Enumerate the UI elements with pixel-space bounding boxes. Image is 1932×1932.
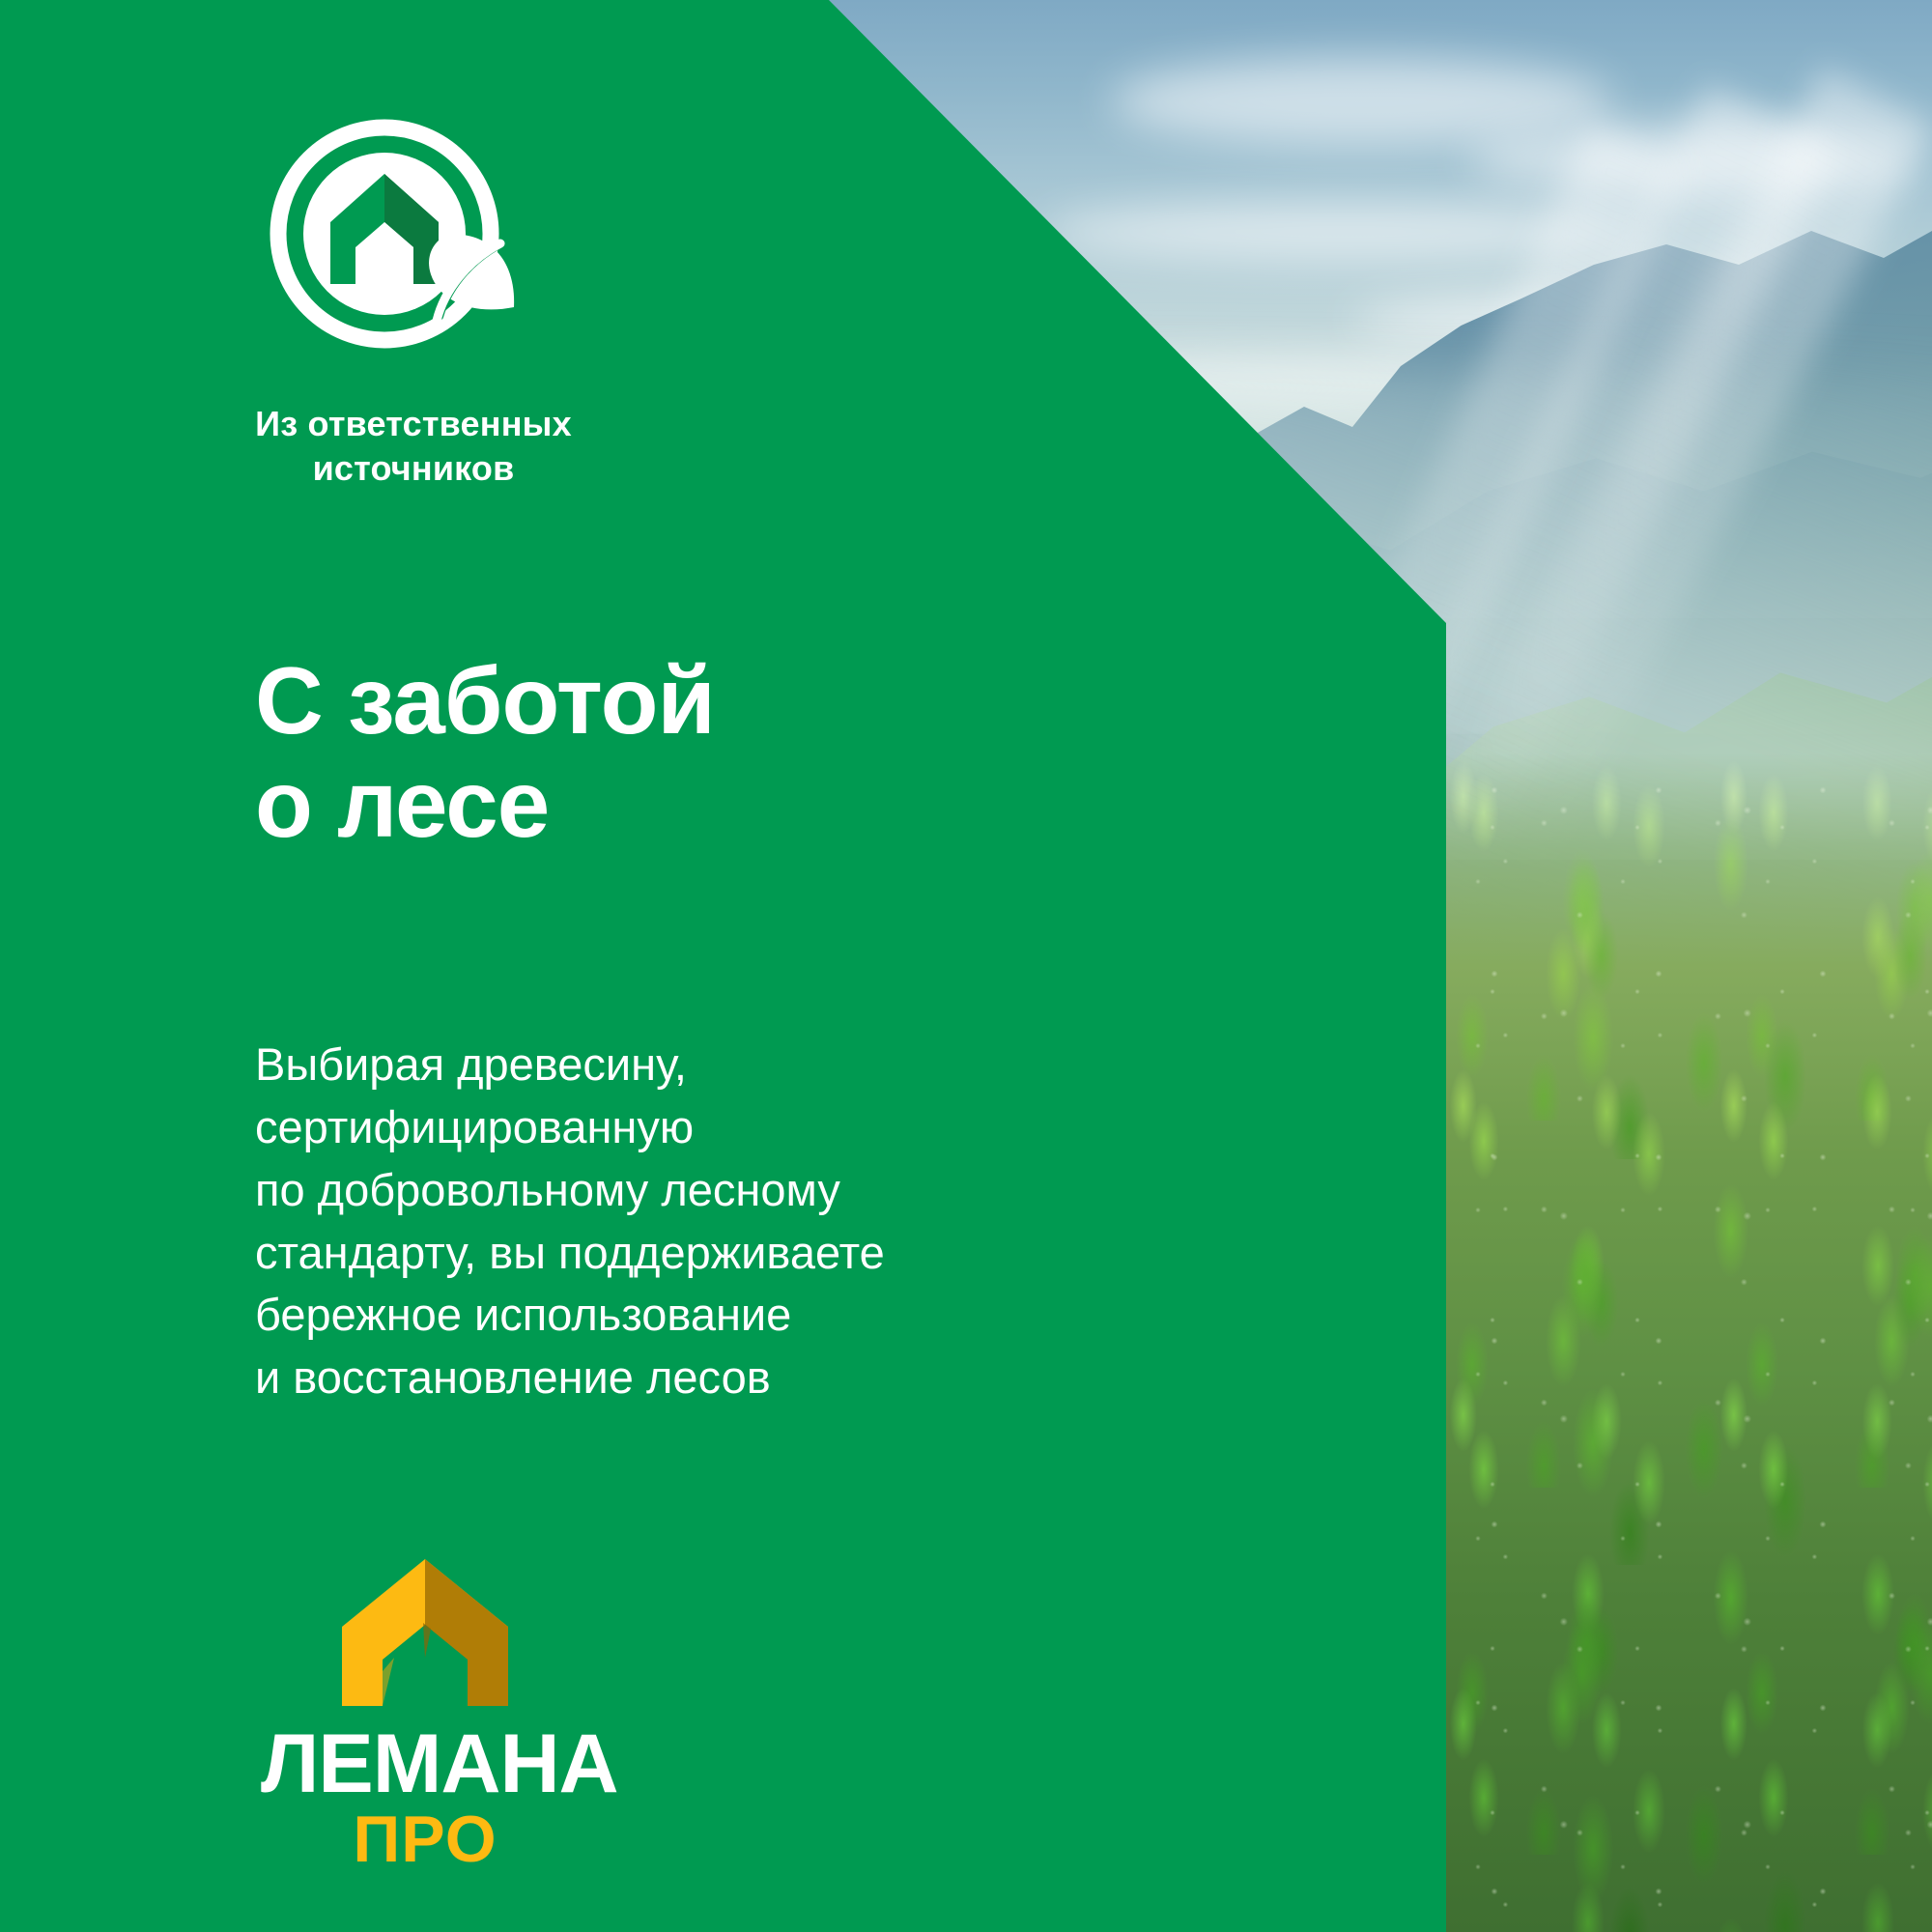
poster-content: Из ответственных источников С заботой о …	[0, 0, 1932, 1932]
eco-tagline-line-2: источников	[240, 446, 587, 491]
eco-tagline-line-1: Из ответственных	[240, 402, 587, 446]
lemana-house-icon	[338, 1555, 512, 1710]
lemana-pro-logo: ЛЕМАНА ПРО	[261, 1555, 589, 1874]
promo-poster: Из ответственных источников С заботой о …	[0, 0, 1932, 1932]
eco-badge: Из ответственных источников	[240, 114, 587, 491]
house-in-circle-with-leaf-icon	[261, 114, 524, 377]
eco-badge-tagline: Из ответственных источников	[240, 402, 587, 491]
brand-subname: ПРО	[261, 1806, 589, 1873]
brand-name: ЛЕМАНА	[261, 1723, 589, 1804]
body-copy: Выбирая древесину, сертифицированную по …	[255, 1034, 885, 1409]
headline: С заботой о лесе	[255, 649, 715, 856]
